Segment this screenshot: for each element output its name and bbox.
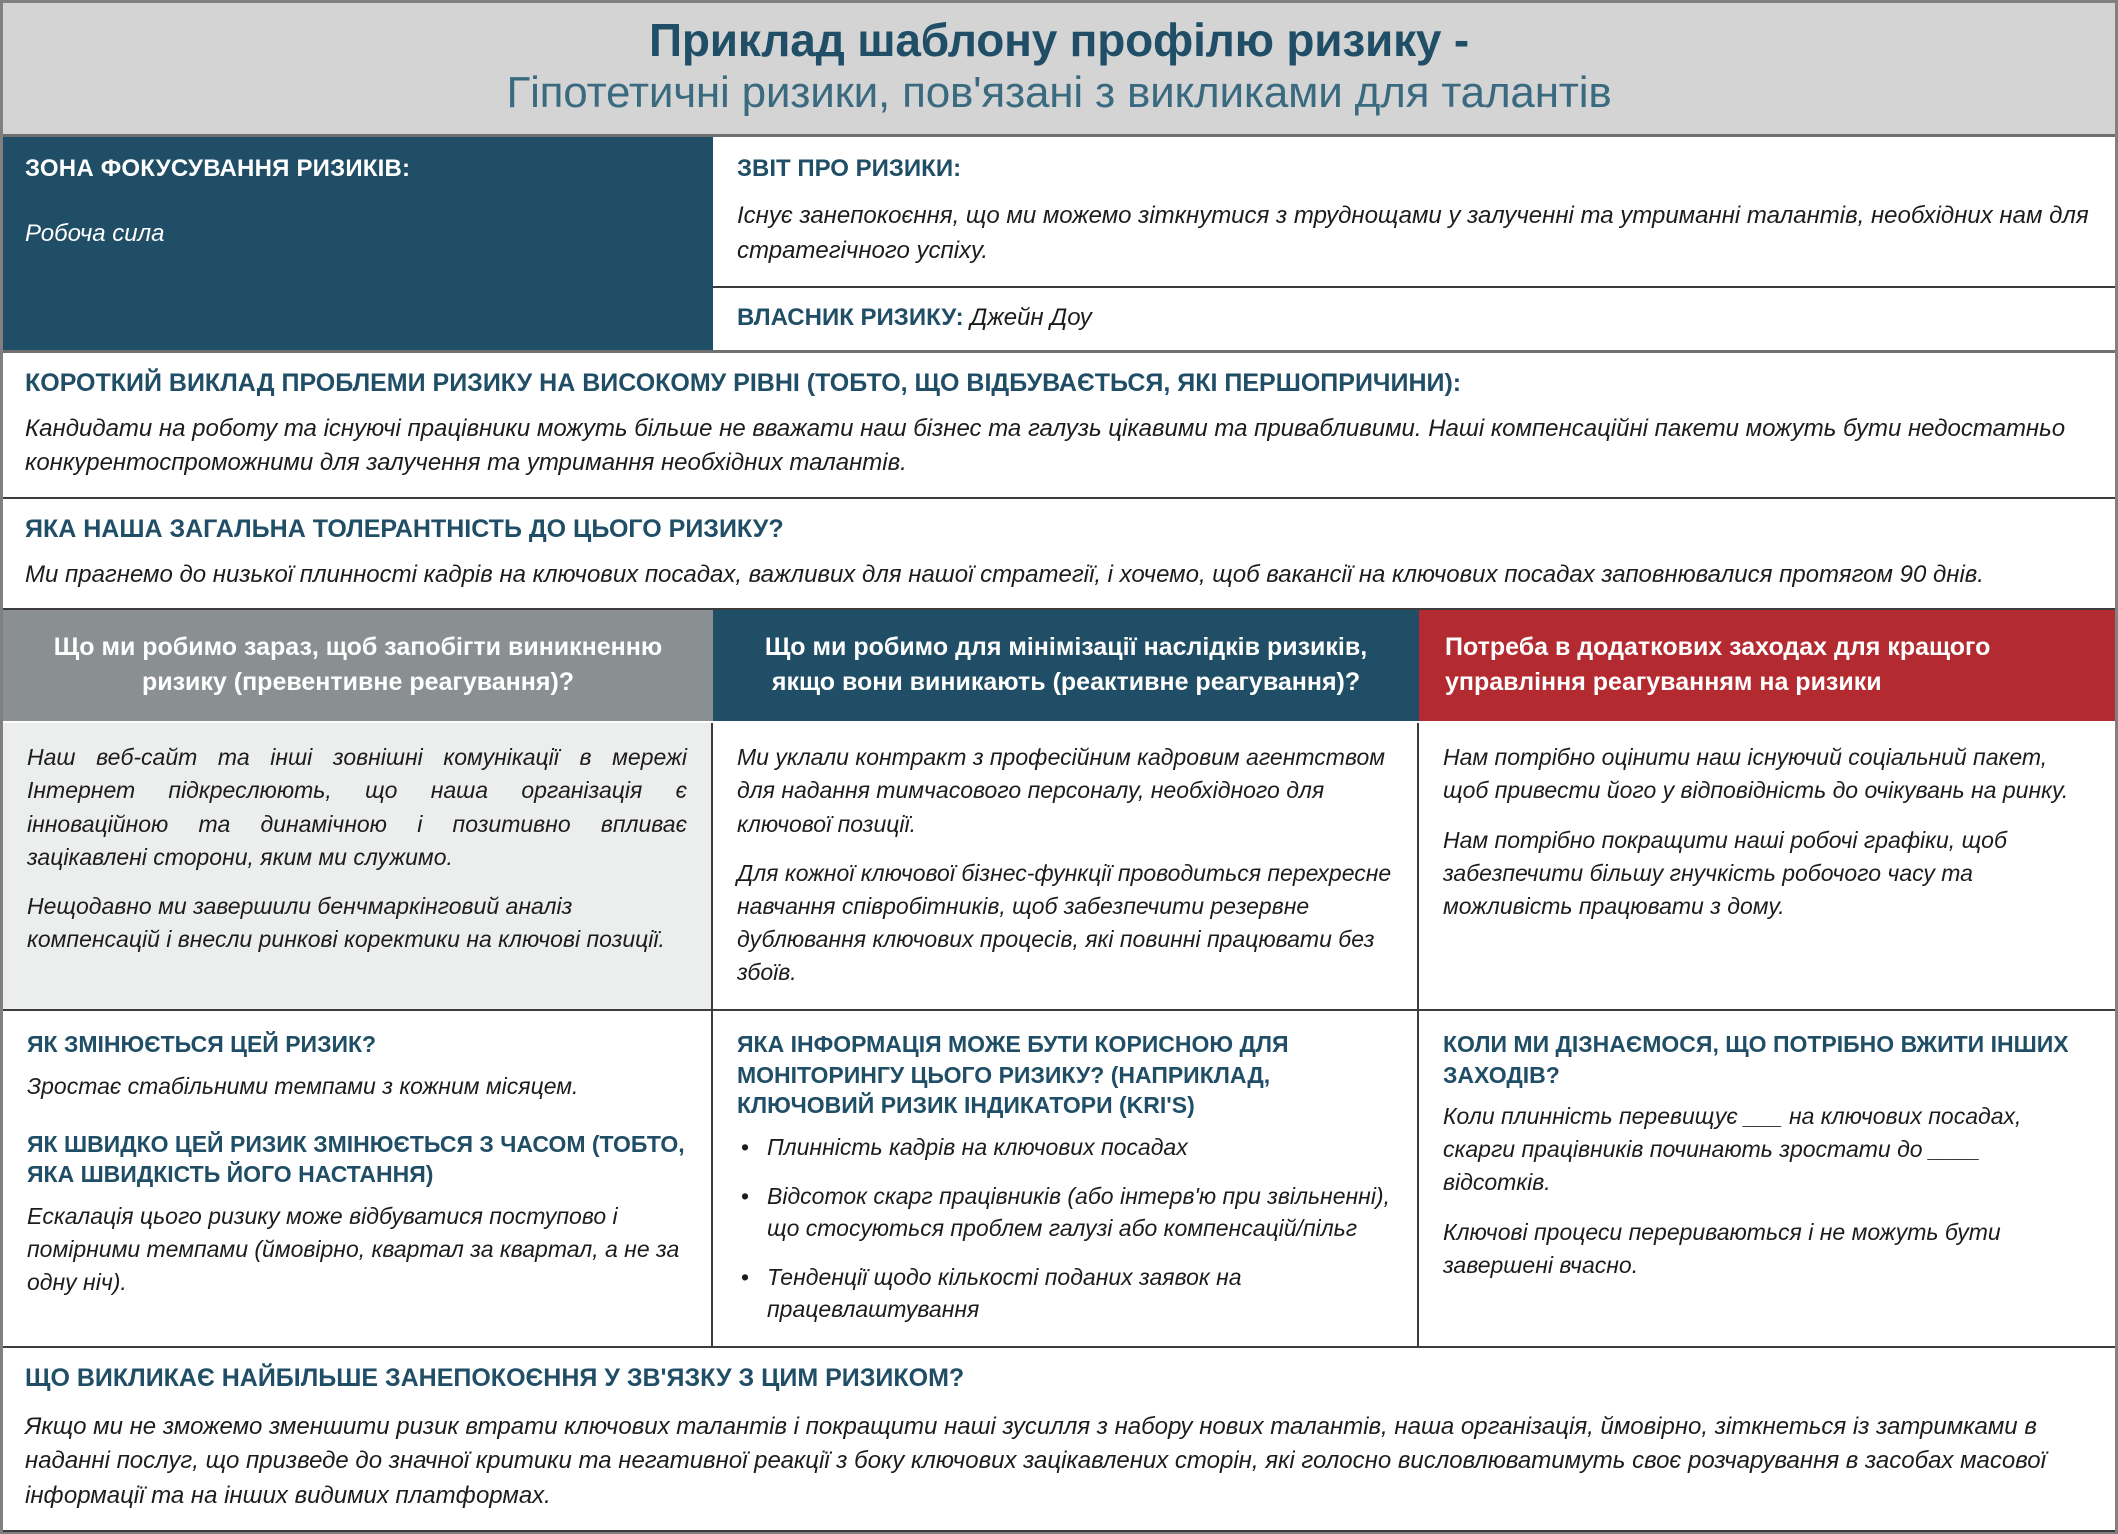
column-header-reactive: Що ми робимо для мінімізації наслідків р… (713, 610, 1419, 721)
greatest-concern-text: Якщо ми не зможемо зменшити ризик втрати… (25, 1410, 2093, 1514)
column-header-additional-measures: Потреба в додаткових заходах для кращого… (1419, 610, 2115, 721)
column-header-preventive: Що ми робимо зараз, щоб запобігти виникн… (3, 610, 713, 721)
risk-focus-area-label: ЗОНА ФОКУСУВАННЯ РИЗИКІВ: (25, 153, 691, 184)
kri-list: Плинність кадрів на ключових посадах Від… (737, 1131, 1393, 1326)
trigger-heading: КОЛИ МИ ДІЗНАЄМОСЯ, ЩО ПОТРІБНО ВЖИТИ ІН… (1443, 1029, 2091, 1090)
list-item: Відсоток скарг працівників (або інтерв'ю… (767, 1180, 1393, 1245)
paragraph: Наш веб-сайт та інші зовнішні комунікаці… (27, 741, 687, 873)
cell-preventive-responses: Наш веб-сайт та інші зовнішні комунікаці… (3, 723, 713, 1009)
risk-tolerance-section: ЯКА НАША ЗАГАЛЬНА ТОЛЕРАНТНІСТЬ ДО ЦЬОГО… (3, 499, 2115, 611)
velocity-heading-speed: ЯК ШВИДКО ЦЕЙ РИЗИК ЗМІНЮЄТЬСЯ З ЧАСОМ (… (27, 1129, 687, 1190)
risk-statement-cell: ЗВІТ ПРО РИЗИКИ: Існує занепокоєння, що … (713, 137, 2115, 288)
velocity-heading-change: ЯК ЗМІНЮЄТЬСЯ ЦЕЙ РИЗИК? (27, 1029, 687, 1060)
paragraph: Нам потрібно покращити наші робочі графі… (1443, 824, 2091, 923)
list-item: Плинність кадрів на ключових посадах (767, 1131, 1393, 1164)
high-level-summary-heading: КОРОТКИЙ ВИКЛАД ПРОБЛЕМИ РИЗИКУ НА ВИСОК… (25, 367, 2093, 401)
risk-statement-column: ЗВІТ ПРО РИЗИКИ: Існує занепокоєння, що … (713, 137, 2115, 350)
paragraph: Ескалація цього ризику може відбуватися … (27, 1200, 687, 1299)
risk-owner-name: Джейн Доу (970, 304, 1091, 331)
list-item: Тенденції щодо кількості поданих заявок … (767, 1261, 1393, 1326)
greatest-concern-section: ЩО ВИКЛИКАЄ НАЙБІЛЬШЕ ЗАНЕПОКОЄННЯ У ЗВ'… (3, 1348, 2115, 1531)
document-title-line-2: Гіпотетичні ризики, пов'язані з викликам… (43, 67, 2075, 120)
response-columns-row-1: Наш веб-сайт та інші зовнішні комунікаці… (3, 723, 2115, 1011)
risk-focus-area-value: Робоча сила (25, 220, 691, 248)
cell-escalation-triggers: КОЛИ МИ ДІЗНАЄМОСЯ, ЩО ПОТРІБНО ВЖИТИ ІН… (1419, 1011, 2115, 1346)
risk-profile-document: Приклад шаблону профілю ризику - Гіпотет… (0, 0, 2118, 1534)
cell-risk-monitoring-kris: ЯКА ІНФОРМАЦІЯ МОЖЕ БУТИ КОРИСНОЮ ДЛЯ МО… (713, 1011, 1419, 1346)
top-info-strip: ЗОНА ФОКУСУВАННЯ РИЗИКІВ: Робоча сила ЗВ… (3, 137, 2115, 353)
paragraph: Ключові процеси перериваються і не можут… (1443, 1216, 2091, 1282)
risk-owner-line: ВЛАСНИК РИЗИКУ: Джейн Доу (737, 304, 2091, 332)
risk-focus-area-cell: ЗОНА ФОКУСУВАННЯ РИЗИКІВ: Робоча сила (3, 137, 713, 350)
paragraph: Зростає стабільними темпами з кожним міс… (27, 1070, 687, 1103)
risk-statement-label: ЗВІТ ПРО РИЗИКИ: (737, 153, 2091, 185)
document-title-line-1: Приклад шаблону профілю ризику - (43, 13, 2075, 67)
cell-reactive-responses: Ми уклали контракт з професійним кадрови… (713, 723, 1419, 1009)
response-columns-row-2: ЯК ЗМІНЮЄТЬСЯ ЦЕЙ РИЗИК? Зростає стабіль… (3, 1011, 2115, 1348)
monitoring-heading: ЯКА ІНФОРМАЦІЯ МОЖЕ БУТИ КОРИСНОЮ ДЛЯ МО… (737, 1029, 1393, 1121)
risk-tolerance-heading: ЯКА НАША ЗАГАЛЬНА ТОЛЕРАНТНІСТЬ ДО ЦЬОГО… (25, 513, 2093, 547)
greatest-concern-heading: ЩО ВИКЛИКАЄ НАЙБІЛЬШЕ ЗАНЕПОКОЄННЯ У ЗВ'… (25, 1362, 2093, 1396)
high-level-summary-text: Кандидати на роботу та існуючі працівник… (25, 412, 2093, 480)
response-columns-header-row: Що ми робимо зараз, щоб запобігти виникн… (3, 610, 2115, 723)
high-level-summary-section: КОРОТКИЙ ВИКЛАД ПРОБЛЕМИ РИЗИКУ НА ВИСОК… (3, 353, 2115, 499)
cell-additional-measures: Нам потрібно оцінити наш існуючий соціал… (1419, 723, 2115, 1009)
risk-tolerance-text: Ми прагнемо до низької плинності кадрів … (25, 558, 2093, 592)
risk-statement-text: Існує занепокоєння, що ми можемо зіткнут… (737, 199, 2091, 267)
paragraph: Ми уклали контракт з професійним кадрови… (737, 741, 1393, 840)
cell-risk-velocity: ЯК ЗМІНЮЄТЬСЯ ЦЕЙ РИЗИК? Зростає стабіль… (3, 1011, 713, 1346)
paragraph: Нещодавно ми завершили бенчмаркінговий а… (27, 890, 687, 956)
paragraph: Для кожної ключової бізнес-функції прово… (737, 857, 1393, 989)
paragraph: Коли плинність перевищує ___ на ключових… (1443, 1100, 2091, 1199)
risk-owner-cell: ВЛАСНИК РИЗИКУ: Джейн Доу (713, 288, 2115, 350)
risk-owner-label: ВЛАСНИК РИЗИКУ: (737, 304, 964, 331)
document-title-banner: Приклад шаблону профілю ризику - Гіпотет… (3, 3, 2115, 137)
paragraph: Нам потрібно оцінити наш існуючий соціал… (1443, 741, 2091, 807)
